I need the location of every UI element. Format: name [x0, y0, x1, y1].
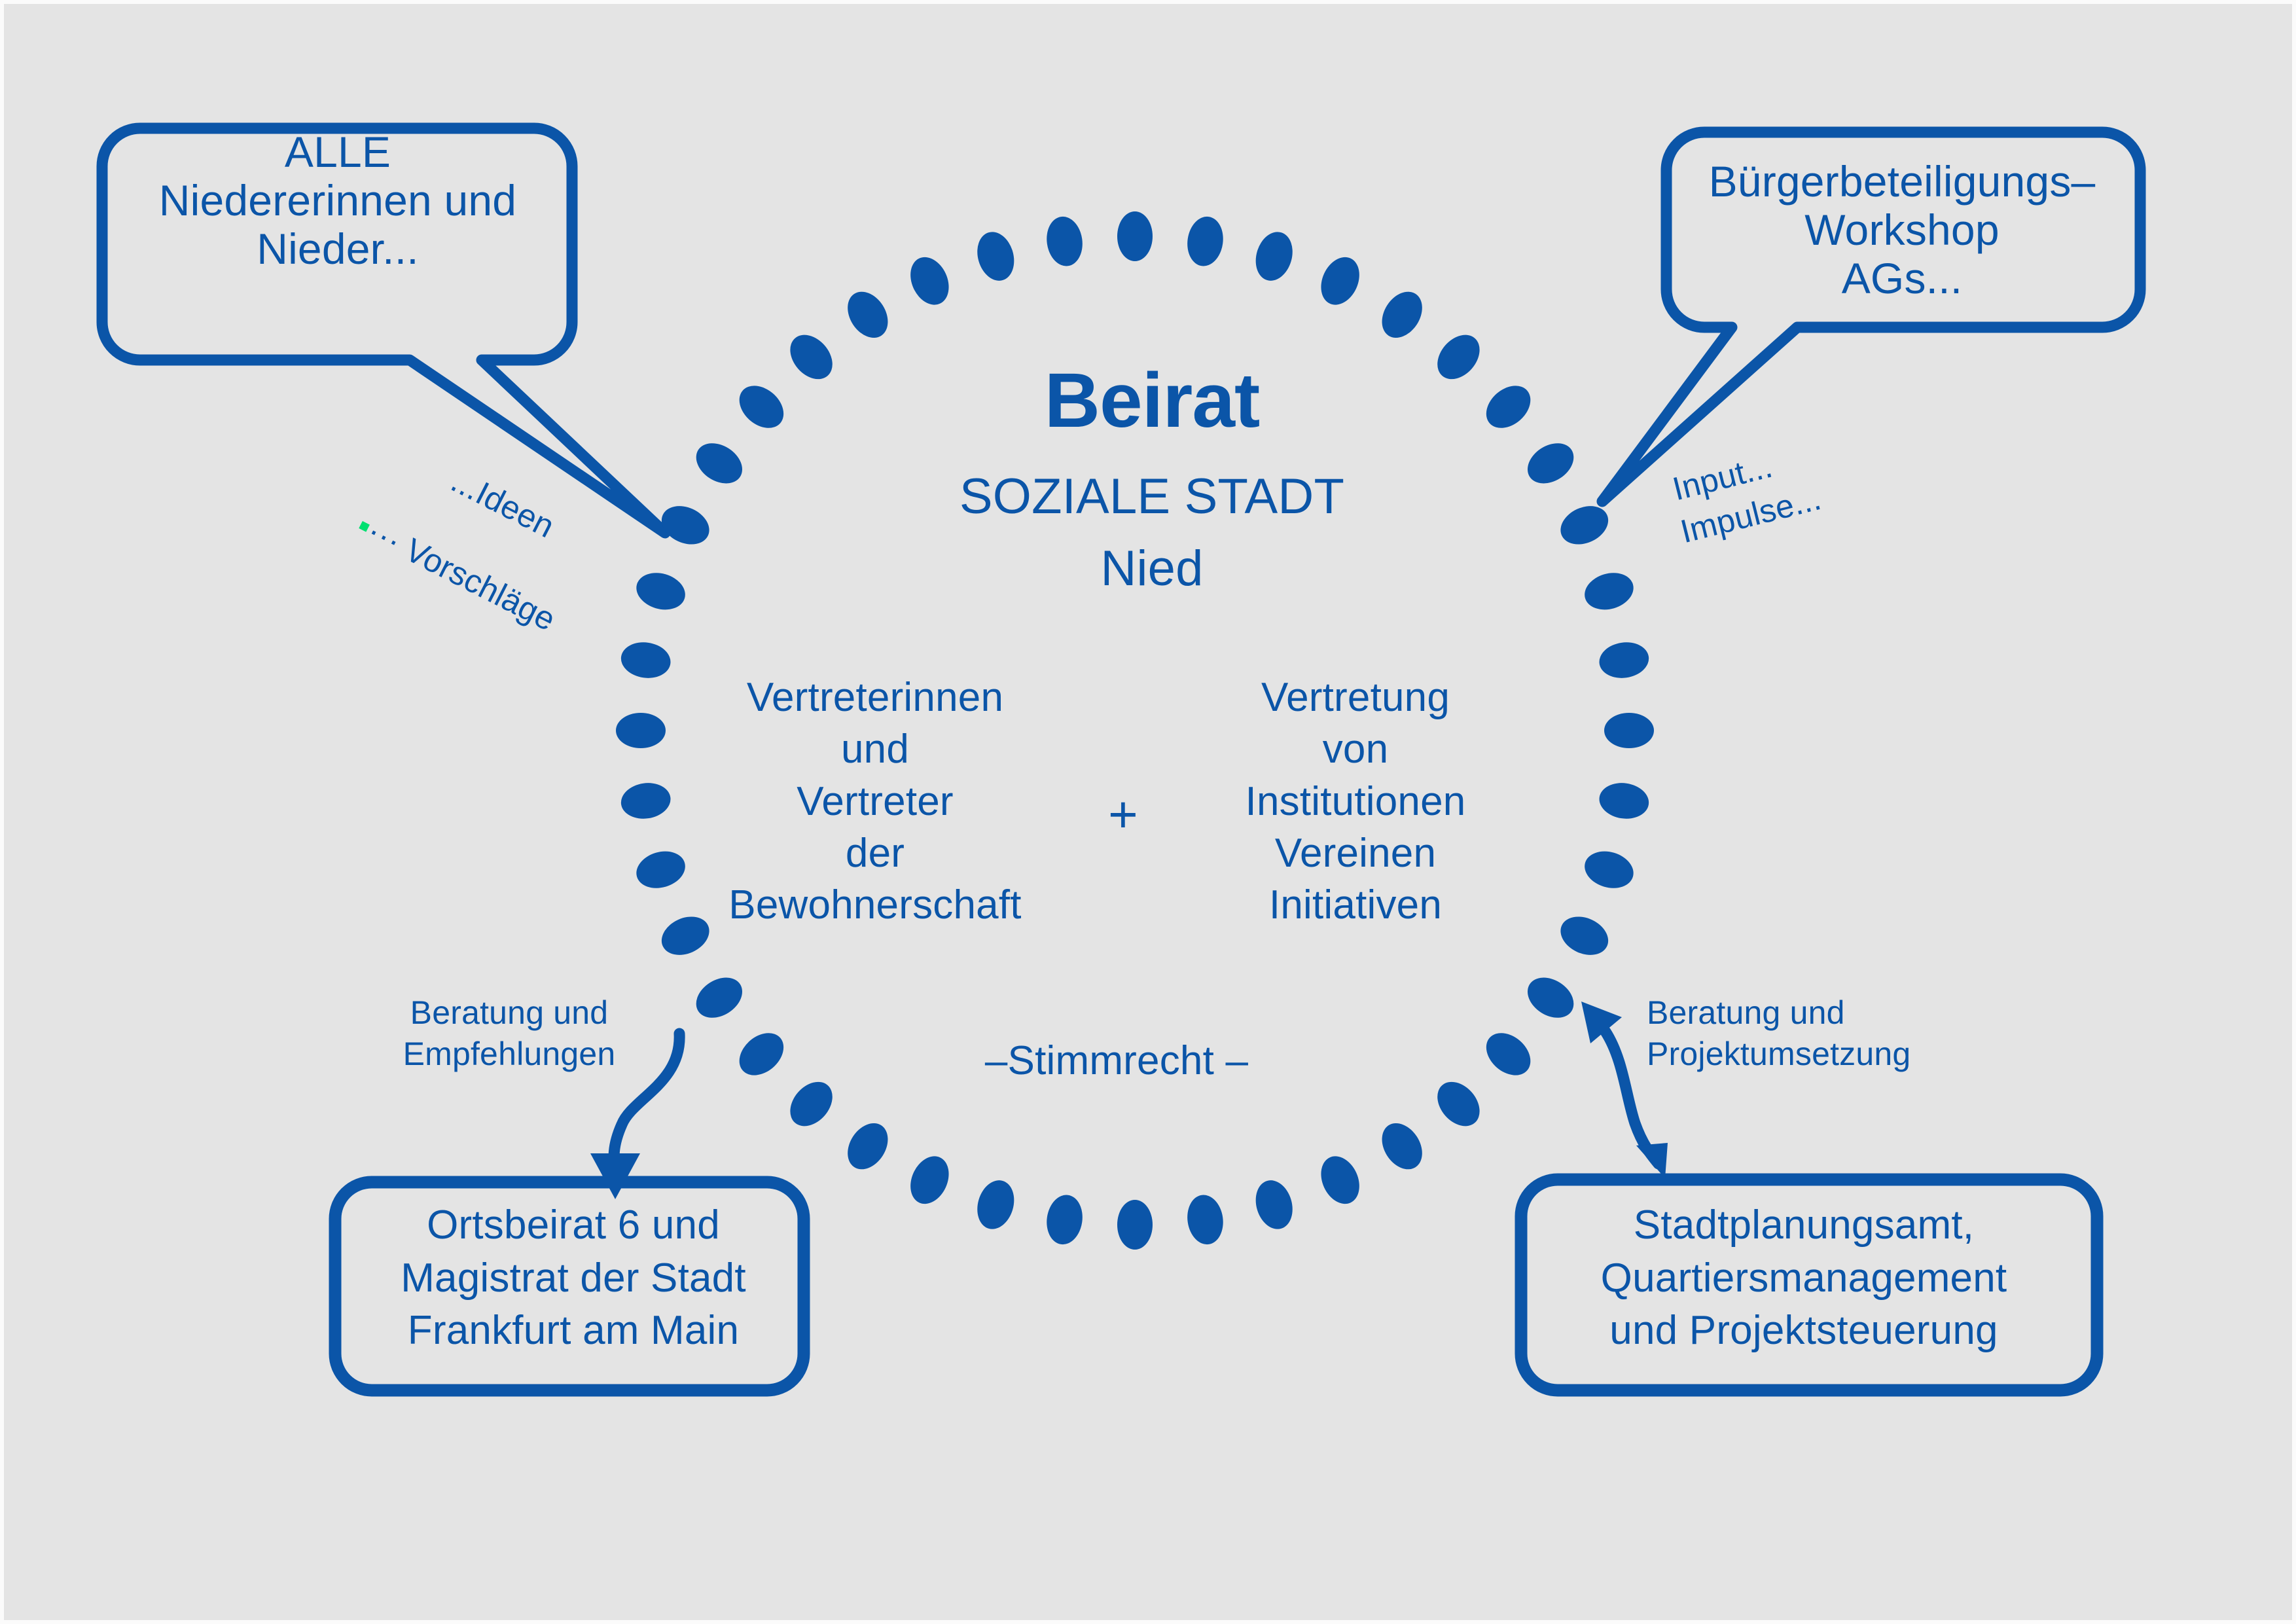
ring-dot	[1554, 499, 1615, 552]
ring-dot	[1520, 969, 1581, 1026]
ring-dot	[1314, 251, 1367, 311]
ring-dot	[632, 846, 690, 893]
ring-dot	[903, 251, 956, 311]
ring-dot	[731, 377, 792, 437]
ring-dot	[619, 780, 673, 821]
bubble-top-left-text: ALLE Niedererinnen und Nieder...	[96, 128, 580, 274]
ring-dot	[1250, 228, 1298, 285]
center-footnote-stimmrecht: –Stimmrecht –	[901, 1038, 1333, 1083]
ring-dot	[1374, 1116, 1431, 1177]
bubble-top-right-text: Bürgerbeteiligungs– Workshop AGs...	[1660, 158, 2144, 303]
ring-dot	[731, 1024, 792, 1084]
ring-dot	[1374, 284, 1431, 345]
ring-dot	[972, 1176, 1020, 1233]
ring-dot	[1604, 713, 1654, 748]
diagram-canvas: ALLE Niedererinnen und Nieder... Bürgerb…	[0, 0, 2296, 1624]
ring-dot	[781, 1074, 841, 1134]
ring-dot	[1520, 435, 1581, 492]
box-bottom-right-text: Stadtplanungsamt, Quartiersmanagement un…	[1529, 1199, 2079, 1358]
ring-dot	[1250, 1176, 1298, 1233]
ring-dot	[1580, 846, 1638, 893]
center-column-right: Vertretung von Institutionen Vereinen In…	[1202, 672, 1509, 931]
ring-dot	[972, 228, 1020, 285]
ring-dot	[1597, 780, 1651, 821]
ring-dot	[655, 499, 715, 552]
ring-dot	[689, 969, 749, 1026]
center-title: Beirat	[825, 357, 1479, 444]
ring-dot	[1478, 1024, 1539, 1084]
ring-dot	[1580, 568, 1638, 615]
ring-dot	[1597, 639, 1651, 681]
box-bottom-left-text: Ortsbeirat 6 und Magistrat der Stadt Fra…	[344, 1199, 802, 1358]
center-subtitle-line1: SOZIALE STADT	[825, 469, 1479, 524]
center-column-left: Vertreterinnen und Vertreter der Bewohne…	[702, 672, 1049, 931]
ring-dot	[619, 639, 673, 681]
ring-dot	[1429, 1074, 1488, 1134]
center-subtitle-line2: Nied	[825, 541, 1479, 596]
ring-dot	[1117, 211, 1153, 261]
ring-dot	[1314, 1150, 1367, 1210]
center-plus-symbol: +	[1084, 786, 1162, 843]
ring-dot	[616, 713, 666, 748]
ring-dot	[903, 1150, 956, 1210]
ring-dot	[1184, 214, 1226, 268]
ring-dot	[1478, 377, 1539, 437]
label-beratung-empfehlungen: Beratung und Empfehlungen	[365, 992, 653, 1074]
label-beratung-projektumsetzung: Beratung und Projektumsetzung	[1647, 992, 1954, 1074]
ring-dot	[840, 284, 897, 345]
ring-dot	[1043, 214, 1085, 268]
ring-dot	[840, 1116, 897, 1177]
ring-dot	[1117, 1200, 1153, 1250]
ring-dot	[689, 435, 749, 492]
ring-dot	[1554, 909, 1615, 962]
ring-dot	[1184, 1193, 1226, 1247]
ring-dot	[1043, 1193, 1085, 1247]
